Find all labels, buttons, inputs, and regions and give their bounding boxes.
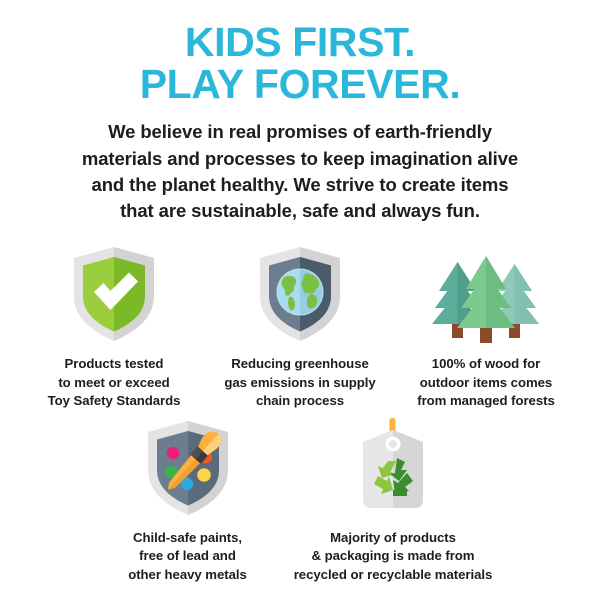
feature-caption: Reducing greenhouse gas emissions in sup… (224, 355, 375, 410)
caption-line-2: free of lead and (128, 547, 247, 565)
feature-item-greenhouse-gas: Reducing greenhouse gas emissions in sup… (207, 242, 393, 410)
icon-container (142, 416, 234, 518)
pine-trees-icon (425, 244, 547, 344)
intro-line-3: and the planet healthy. We strive to cre… (44, 172, 556, 198)
icon-container (425, 242, 547, 344)
caption-line-3: chain process (224, 392, 375, 410)
caption-line-3: other heavy metals (128, 566, 247, 584)
shield-paintbrush-icon (142, 418, 234, 518)
caption-line-1: Majority of products (294, 529, 493, 547)
feature-row-1: Products tested to meet or exceed Toy Sa… (0, 242, 600, 410)
feature-item-managed-forests: 100% of wood for outdoor items comes fro… (393, 242, 579, 410)
caption-line-2: outdoor items comes (417, 374, 555, 392)
caption-line-1: Child-safe paints, (128, 529, 247, 547)
caption-line-1: Products tested (48, 355, 181, 373)
caption-line-3: from managed forests (417, 392, 555, 410)
intro-paragraph: We believe in real promises of earth-fri… (44, 119, 556, 224)
intro-line-2: materials and processes to keep imaginat… (44, 146, 556, 172)
infographic-page: KIDS FIRST. PLAY FOREVER. We believe in … (0, 0, 600, 600)
page-title: KIDS FIRST. PLAY FOREVER. (0, 0, 600, 104)
caption-line-2: gas emissions in supply (224, 374, 375, 392)
caption-line-2: to meet or exceed (48, 374, 181, 392)
shield-check-icon (68, 244, 160, 344)
feature-item-toy-safety: Products tested to meet or exceed Toy Sa… (21, 242, 207, 410)
feature-row-2: Child-safe paints, free of lead and othe… (0, 416, 600, 584)
intro-line-4: that are sustainable, safe and always fu… (44, 198, 556, 224)
icon-container (347, 416, 439, 518)
shield-globe-icon (254, 244, 346, 344)
recycle-tag-icon (347, 418, 439, 518)
feature-item-child-safe-paints: Child-safe paints, free of lead and othe… (95, 416, 281, 584)
feature-grid: Products tested to meet or exceed Toy Sa… (0, 242, 600, 583)
feature-item-recycled-packaging: Majority of products & packaging is made… (281, 416, 506, 584)
feature-caption: Child-safe paints, free of lead and othe… (128, 529, 247, 584)
feature-caption: 100% of wood for outdoor items comes fro… (417, 355, 555, 410)
page-title-line-1: KIDS FIRST. (0, 22, 600, 62)
caption-line-3: Toy Safety Standards (48, 392, 181, 410)
feature-caption: Products tested to meet or exceed Toy Sa… (48, 355, 181, 410)
caption-line-3: recycled or recyclable materials (294, 566, 493, 584)
icon-container (68, 242, 160, 344)
feature-caption: Majority of products & packaging is made… (294, 529, 493, 584)
page-title-line-2: PLAY FOREVER. (0, 64, 600, 104)
icon-container (254, 242, 346, 344)
caption-line-1: 100% of wood for (417, 355, 555, 373)
caption-line-2: & packaging is made from (294, 547, 493, 565)
caption-line-1: Reducing greenhouse (224, 355, 375, 373)
intro-line-1: We believe in real promises of earth-fri… (44, 119, 556, 145)
